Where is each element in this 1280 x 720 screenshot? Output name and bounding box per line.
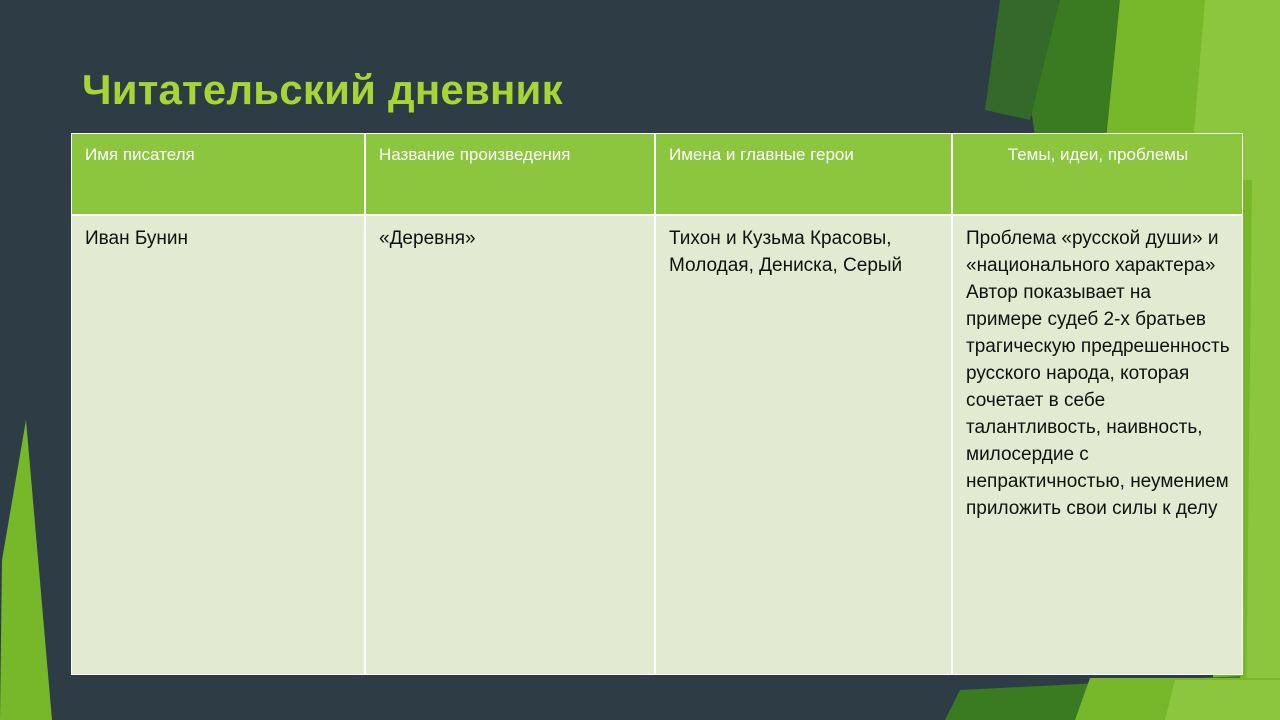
column-header-work-title[interactable]: Название произведения <box>365 133 655 215</box>
table-body: Иван Бунин «Деревня» Тихон и Кузьма Крас… <box>71 215 1243 675</box>
column-header-author[interactable]: Имя писателя <box>71 133 365 215</box>
cell-themes[interactable]: Проблема «русской души» и «национального… <box>952 215 1243 675</box>
column-header-themes[interactable]: Темы, идеи, проблемы <box>952 133 1243 215</box>
page-title: Читательский дневник <box>82 66 563 114</box>
table-header-row: Имя писателя Название произведения Имена… <box>71 133 1243 215</box>
cell-characters-text: Тихон и Кузьма Красовы, Молодая, Дениска… <box>669 226 939 280</box>
cell-author-text: Иван Бунин <box>85 226 352 253</box>
cell-work-title-text: «Деревня» <box>379 226 642 253</box>
cell-themes-text: Проблема «русской души» и «национального… <box>966 226 1230 523</box>
reading-diary-table: Имя писателя Название произведения Имена… <box>71 133 1243 675</box>
column-header-characters[interactable]: Имена и главные герои <box>655 133 952 215</box>
cell-work-title[interactable]: «Деревня» <box>365 215 655 675</box>
slide-root: Читательский дневник Имя писателя Назван… <box>0 0 1280 720</box>
table-header: Имя писателя Название произведения Имена… <box>71 133 1243 215</box>
table-row: Иван Бунин «Деревня» Тихон и Кузьма Крас… <box>71 215 1243 675</box>
cell-author[interactable]: Иван Бунин <box>71 215 365 675</box>
cell-characters[interactable]: Тихон и Кузьма Красовы, Молодая, Дениска… <box>655 215 952 675</box>
